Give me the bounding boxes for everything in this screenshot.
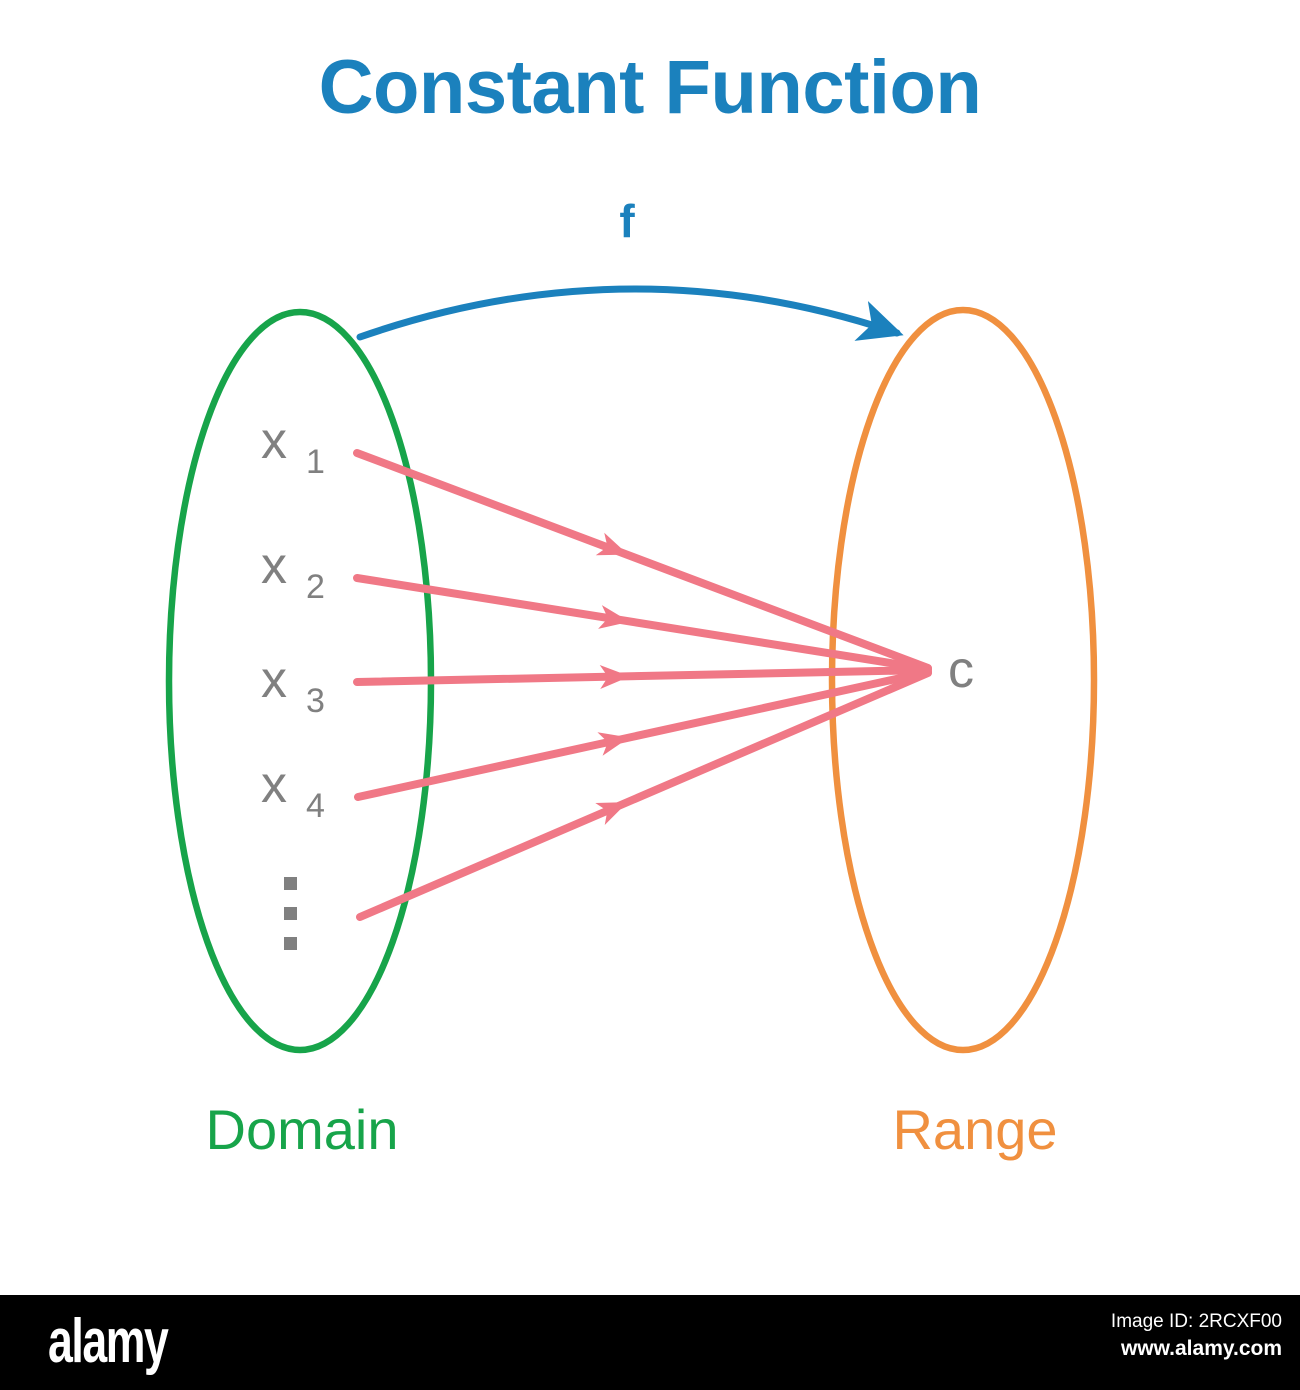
domain-element-1-subscript: 1 [306, 443, 325, 481]
stock-photo-footer: alamy Image ID: 2RCXF00 www.alamy.com [0, 1295, 1300, 1390]
image-id-text: Image ID: 2RCXF00 [1111, 1309, 1282, 1335]
alamy-url-text[interactable]: www.alamy.com [1111, 1335, 1282, 1363]
domain-element-3-base: x [261, 651, 287, 709]
domain-element-group: x 1 x 2 x 3 x 4 [261, 412, 325, 825]
range-set-label: Range [892, 1098, 1057, 1161]
domain-element-1-base: x [261, 412, 287, 470]
mapping-arrowhead-xn [595, 791, 632, 825]
domain-element-2-base: x [261, 537, 287, 595]
page-title: Constant Function [319, 45, 982, 130]
mapping-arrowhead-x1 [596, 533, 633, 566]
mapping-arrow-xn [360, 673, 928, 917]
function-arc-arrow [360, 289, 897, 337]
domain-vertical-ellipsis-icon [284, 877, 297, 950]
alamy-logo: alamy [48, 1311, 167, 1373]
domain-set-label: Domain [206, 1098, 399, 1161]
diagram-canvas: Constant Function f x [0, 0, 1300, 1295]
mapping-arrow-x3 [357, 670, 928, 682]
function-label: f [619, 195, 635, 247]
mapping-arrow-x4 [358, 672, 928, 797]
mapping-arrow-x1 [357, 453, 928, 668]
footer-meta: Image ID: 2RCXF00 www.alamy.com [1111, 1309, 1282, 1363]
domain-element-2-subscript: 2 [306, 568, 325, 606]
constant-function-diagram: Constant Function f x [0, 0, 1300, 1295]
range-element-c: c [948, 641, 974, 699]
domain-element-4-subscript: 4 [306, 787, 325, 825]
mapping-arrow-x2 [357, 578, 928, 669]
domain-element-4-base: x [261, 756, 287, 814]
domain-element-3-subscript: 3 [306, 682, 325, 720]
